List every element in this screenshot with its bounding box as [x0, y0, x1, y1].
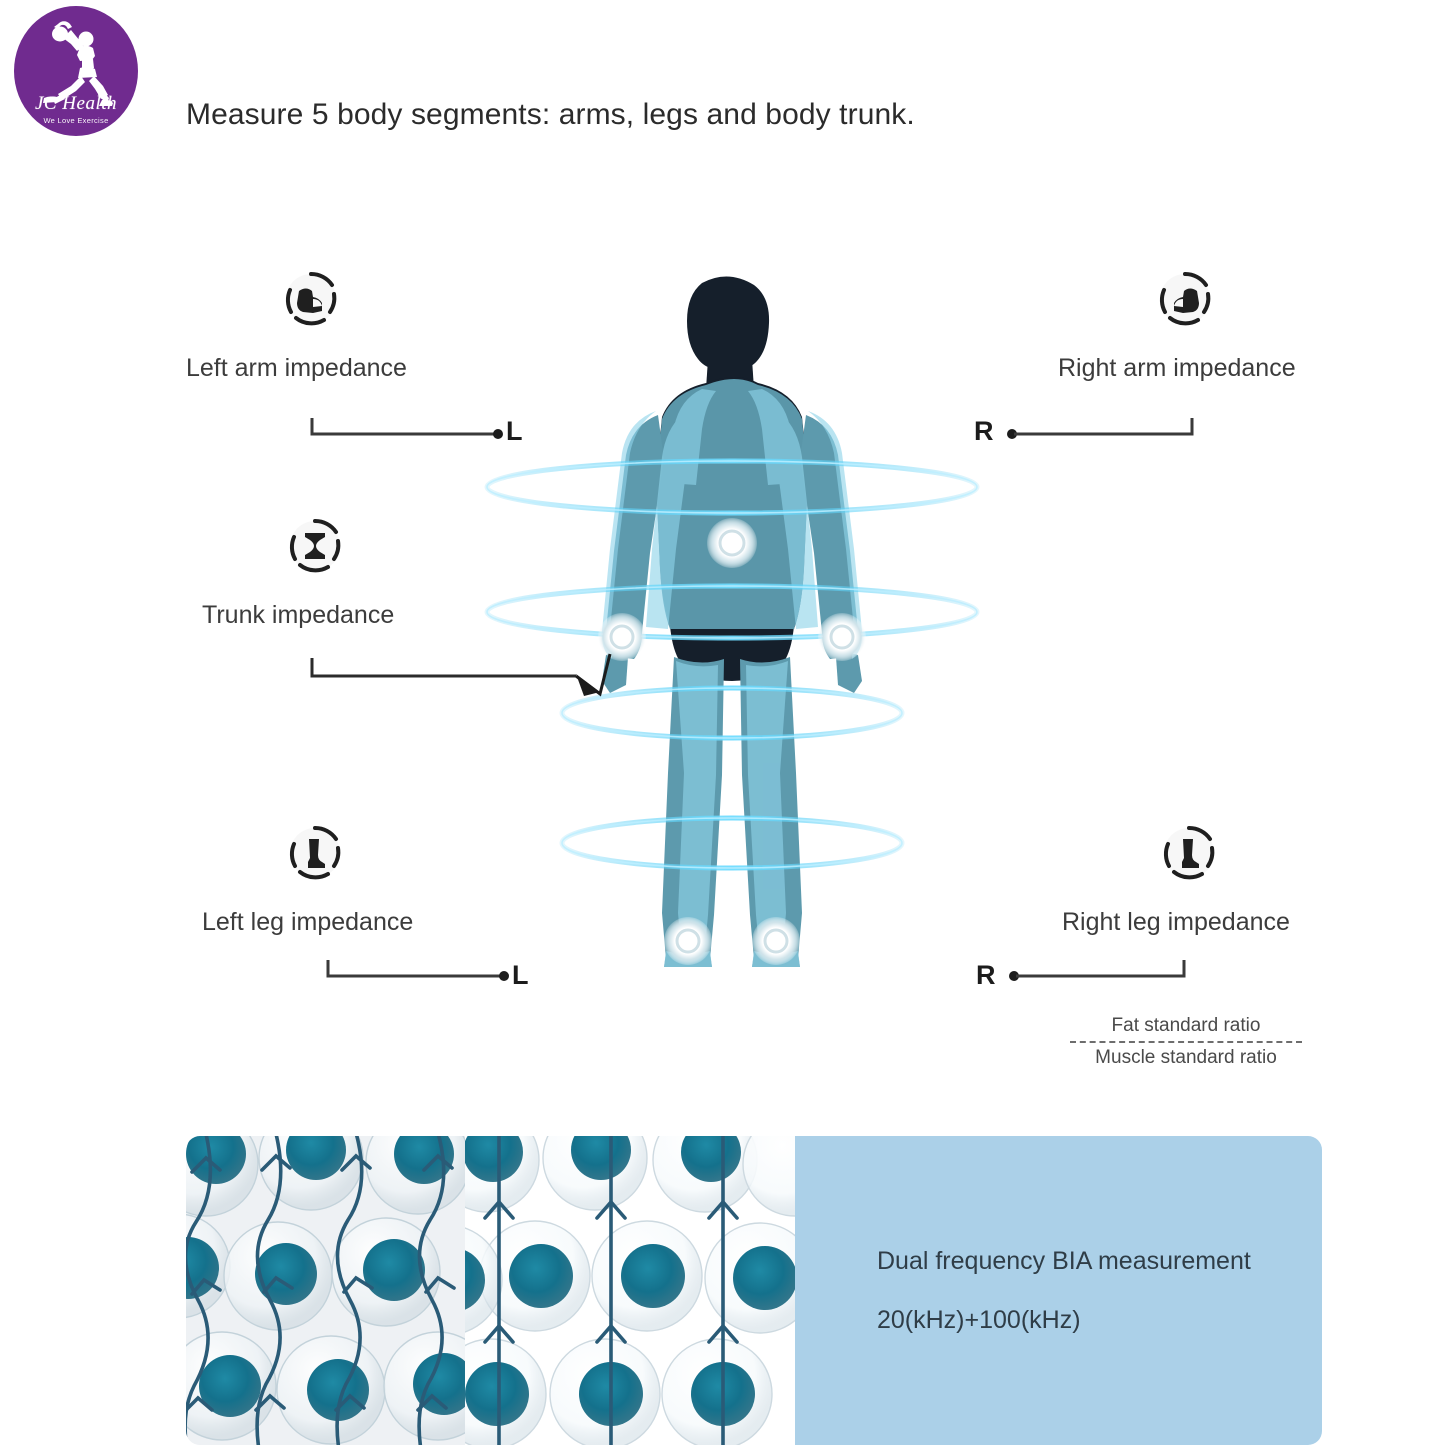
brand-logo: JC Health We Love Exercise	[14, 6, 138, 136]
cells-with-curving-current-around-icon	[186, 1136, 465, 1445]
side-letter-right-leg: R	[976, 962, 996, 989]
flexed-bicep-icon	[280, 268, 342, 330]
connector-trunk	[310, 648, 630, 704]
bottom-panel: Dual frequency BIA measurement 20(kHz)+1…	[186, 1136, 1322, 1445]
connector-left-leg	[326, 954, 516, 988]
side-letter-left-arm: L	[506, 418, 523, 445]
leg-boot-icon	[284, 822, 346, 884]
page-title: Measure 5 body segments: arms, legs and …	[186, 98, 915, 132]
segment-left-arm-label: Left arm impedance	[186, 356, 407, 381]
segment-trunk-label: Trunk impedance	[202, 603, 394, 628]
segment-right-arm-label: Right arm impedance	[1058, 356, 1296, 381]
flexed-bicep-icon	[1154, 268, 1216, 330]
segment-left-leg-label: Left leg impedance	[202, 910, 413, 935]
torso-hourglass-icon	[284, 515, 346, 577]
side-letter-left-leg: L	[512, 962, 529, 989]
standard-ratio-legend: Fat standard ratio Muscle standard ratio	[1070, 1014, 1302, 1070]
logo-tagline: We Love Exercise	[43, 117, 108, 125]
logo-brand-name: JC Health	[35, 94, 117, 113]
bia-info-line-2: 20(kHz)+100(kHz)	[877, 1308, 1322, 1333]
cells-with-straight-current-through-icon	[465, 1136, 795, 1445]
human-body-bia-diagram	[470, 265, 990, 1005]
bia-info-panel: Dual frequency BIA measurement 20(kHz)+1…	[795, 1136, 1322, 1445]
segment-right-leg-label: Right leg impedance	[1062, 910, 1290, 935]
ratio-numerator: Fat standard ratio	[1070, 1014, 1302, 1038]
infographic-canvas: JC Health We Love Exercise Measure 5 bod…	[0, 0, 1445, 1445]
connector-right-arm	[1006, 412, 1206, 446]
leg-boot-icon	[1158, 822, 1220, 884]
bia-info-line-1: Dual frequency BIA measurement	[877, 1249, 1322, 1274]
connector-left-arm	[310, 412, 510, 446]
ratio-denominator: Muscle standard ratio	[1070, 1046, 1302, 1070]
side-letter-right-arm: R	[974, 418, 994, 445]
woman-lunge-kettlebell-icon	[14, 10, 138, 106]
connector-right-leg	[1008, 954, 1198, 988]
ratio-divider	[1070, 1041, 1302, 1043]
